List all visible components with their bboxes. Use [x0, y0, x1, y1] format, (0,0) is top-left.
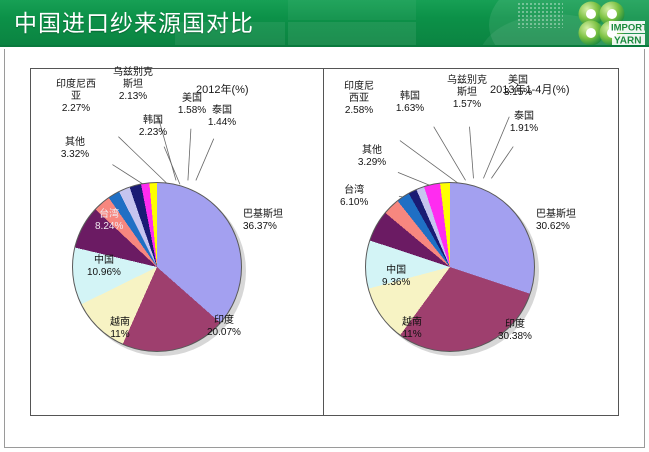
logo-mark-icon: IMPORTED YARN [565, 1, 645, 47]
charts-container: 2012年(%) 巴基斯坦 36.37% 印度 20.07% 越南 11% [30, 68, 619, 416]
pie-label-korea: 韩国 2.23% [127, 115, 179, 139]
pie-label-indonesia: 印度尼 西亚 2.58% [326, 81, 392, 117]
logo-text-imported: IMPORTED [611, 23, 645, 34]
pie-label-vietnam: 越南 11% [110, 317, 130, 341]
page-title: 中国进口纱来源国对比 [14, 8, 254, 38]
pie-label-taiwan: 台湾 8.24% [95, 209, 123, 233]
imported-yarn-logo: IMPORTED YARN [565, 1, 645, 47]
pie-label-uzbekistan: 乌兹别克 斯坦 2.13% [95, 67, 171, 103]
header-dot-pattern [517, 2, 563, 28]
pie-label-uzbekistan: 乌兹别克 斯坦 1.57% [430, 75, 504, 111]
header-underline [0, 45, 649, 47]
pie-label-pakistan: 巴基斯坦 30.62% [536, 209, 576, 233]
header-accent-panel-b [288, 0, 416, 20]
pie-label-thailand: 泰国 1.91% [500, 111, 548, 135]
pie-label-india: 印度 20.07% [207, 315, 241, 339]
pie-label-other: 其他 3.32% [45, 137, 105, 161]
chart-panel-2012: 2012年(%) 巴基斯坦 36.37% 印度 20.07% 越南 11% [30, 68, 324, 416]
pie-label-taiwan: 台湾 6.10% [340, 185, 368, 209]
pie-label-pakistan: 巴基斯坦 36.37% [243, 209, 283, 233]
header-accent-panel-c [288, 22, 416, 47]
pie-label-vietnam: 越南 11% [402, 317, 422, 341]
pie-label-china: 中国 9.36% [382, 265, 410, 289]
chart-panel-2013: 2013年1-4月(%) 巴基斯坦 30.62% 印度 30.38% 越南 11… [324, 68, 619, 416]
pie-label-korea: 韩国 1.63% [386, 91, 434, 115]
pie-label-india: 印度 30.38% [498, 319, 532, 343]
slide-header: 中国进口纱来源国对比 IMPORTED [0, 0, 649, 47]
pie-label-usa: 美国 3.15% [494, 75, 542, 99]
pie-label-thailand: 泰国 1.44% [197, 105, 247, 129]
pie-label-china: 中国 10.96% [87, 255, 121, 279]
pie-label-other: 其他 3.29% [342, 145, 402, 169]
